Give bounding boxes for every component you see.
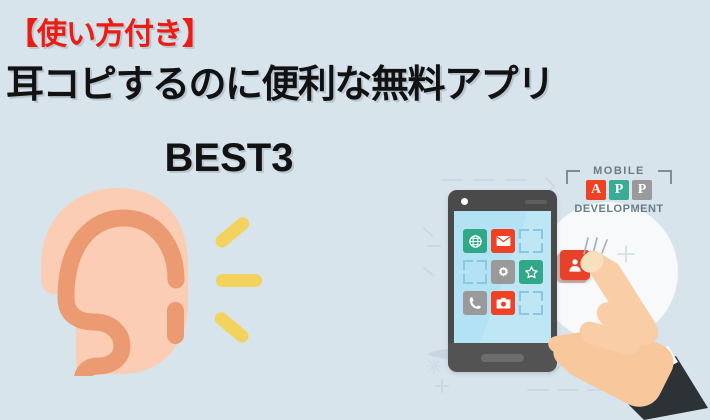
badge-letter-p1: P xyxy=(609,180,629,200)
headline-line-1: 耳コピするのに便利な無料アプリ xyxy=(6,66,554,104)
home-button[interactable] xyxy=(481,354,524,362)
hand-tapping-icon xyxy=(548,248,710,420)
badge-corner-left xyxy=(566,170,580,184)
badge-letter-p2: P xyxy=(632,180,652,200)
front-camera-icon xyxy=(461,198,468,205)
headline-line-2: BEST3 xyxy=(0,138,458,178)
app-grid xyxy=(463,229,543,325)
badge-bottom-label: DEVELOPMENT xyxy=(566,202,672,216)
settings-app-icon[interactable] xyxy=(491,260,515,284)
badge-top-label: MOBILE xyxy=(566,164,672,178)
sound-wave-lines xyxy=(212,215,262,346)
badge-corner-right xyxy=(658,170,672,184)
camera-app-icon[interactable] xyxy=(491,291,515,315)
ear-icon xyxy=(36,186,276,376)
mail-app-icon[interactable] xyxy=(491,229,515,253)
handset-glyph xyxy=(468,296,482,310)
placeholder-app-slot-1 xyxy=(519,229,543,253)
badge-letter-a: A xyxy=(586,180,606,200)
smartphone xyxy=(448,190,557,372)
sparkle-icon-2 xyxy=(424,356,444,376)
gear-glyph xyxy=(496,265,511,280)
placeholder-app-slot-2 xyxy=(463,260,487,284)
earpiece-speaker xyxy=(525,200,547,204)
envelope-glyph xyxy=(496,235,511,247)
camera-glyph xyxy=(496,297,511,310)
ear-illustration xyxy=(36,186,276,376)
star-glyph xyxy=(524,265,539,280)
badge-letter-row: A P P xyxy=(566,180,672,200)
kicker-text: 【使い方付き】 xyxy=(8,20,211,50)
globe-glyph xyxy=(468,234,483,249)
placeholder-app-slot-3 xyxy=(519,291,543,315)
phone-app-icon[interactable] xyxy=(463,291,487,315)
mobile-app-scene: MOBILE A P P DEVELOPMENT xyxy=(418,150,710,420)
banner-canvas: 【使い方付き】 耳コピするのに便利な無料アプリ BEST3 xyxy=(0,0,710,420)
app-development-badge: MOBILE A P P DEVELOPMENT xyxy=(566,164,672,230)
phone-screen xyxy=(454,211,551,343)
favorites-app-icon[interactable] xyxy=(519,260,543,284)
globe-app-icon[interactable] xyxy=(463,229,487,253)
